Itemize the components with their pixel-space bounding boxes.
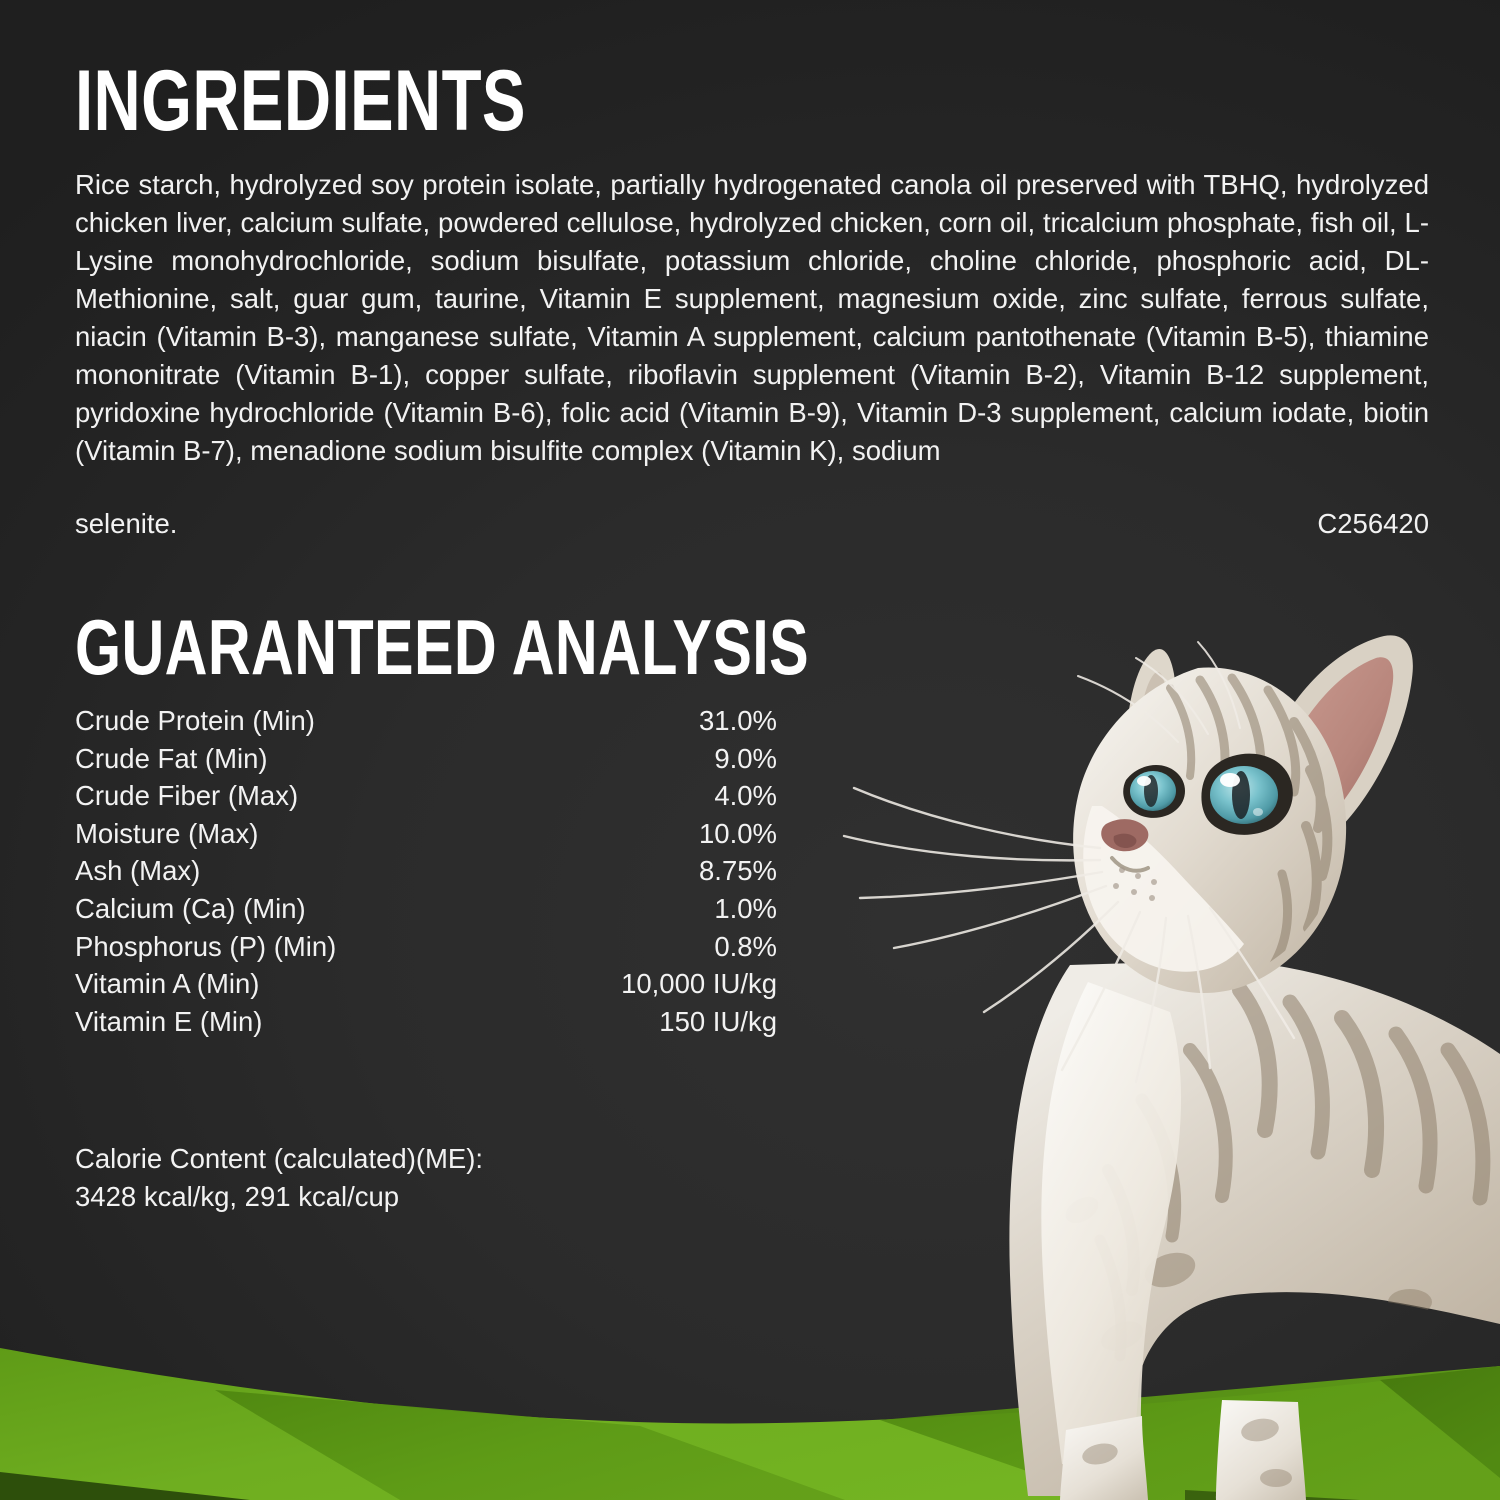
table-row: Phosphorus (P) (Min) 0.8%	[75, 928, 777, 966]
table-row: Crude Protein (Min) 31.0%	[75, 702, 777, 740]
nutrient-label: Vitamin E (Min)	[75, 1003, 262, 1041]
nutrient-label: Ash (Max)	[75, 852, 200, 890]
calorie-content-block: Calorie Content (calculated)(ME): 3428 k…	[75, 1140, 483, 1216]
nutrient-value: 10.0%	[699, 815, 777, 853]
ingredients-heading: INGREDIENTS	[75, 58, 526, 144]
nutrient-value: 0.8%	[714, 928, 777, 966]
table-row: Vitamin A (Min) 10,000 IU/kg	[75, 965, 777, 1003]
ingredients-last-line-row: selenite. C256420	[75, 505, 1429, 543]
ingredients-last-word: selenite.	[75, 505, 177, 543]
nutrient-value: 9.0%	[714, 740, 777, 778]
nutrient-value: 1.0%	[714, 890, 777, 928]
nutrient-label: Vitamin A (Min)	[75, 965, 259, 1003]
calorie-content-value: 3428 kcal/kg, 291 kcal/cup	[75, 1178, 483, 1216]
nutrient-value: 150 IU/kg	[659, 1003, 777, 1041]
nutrient-value: 31.0%	[699, 702, 777, 740]
table-row: Crude Fat (Min) 9.0%	[75, 740, 777, 778]
nutrient-label: Crude Fiber (Max)	[75, 777, 298, 815]
table-row: Ash (Max) 8.75%	[75, 852, 777, 890]
table-row: Calcium (Ca) (Min) 1.0%	[75, 890, 777, 928]
nutrient-label: Phosphorus (P) (Min)	[75, 928, 336, 966]
guaranteed-analysis-heading: GUARANTEED ANALYSIS	[75, 608, 809, 686]
green-wave-graphic	[0, 1240, 1500, 1500]
ingredients-body-text: Rice starch, hydrolyzed soy protein isol…	[75, 166, 1429, 470]
table-row: Vitamin E (Min) 150 IU/kg	[75, 1003, 777, 1041]
nutrient-label: Crude Fat (Min)	[75, 740, 268, 778]
calorie-content-label: Calorie Content (calculated)(ME):	[75, 1140, 483, 1178]
nutrient-value: 8.75%	[699, 852, 777, 890]
nutrient-label: Calcium (Ca) (Min)	[75, 890, 306, 928]
nutrient-label: Moisture (Max)	[75, 815, 258, 853]
nutrient-value: 4.0%	[714, 777, 777, 815]
table-row: Crude Fiber (Max) 4.0%	[75, 777, 777, 815]
guaranteed-analysis-table: Crude Protein (Min) 31.0% Crude Fat (Min…	[75, 702, 777, 1040]
ingredients-paragraph: Rice starch, hydrolyzed soy protein isol…	[75, 169, 1429, 466]
table-row: Moisture (Max) 10.0%	[75, 815, 777, 853]
product-code: C256420	[1317, 505, 1429, 543]
pet-food-label-panel: INGREDIENTS Rice starch, hydrolyzed soy …	[0, 0, 1500, 1500]
nutrient-label: Crude Protein (Min)	[75, 702, 315, 740]
nutrient-value: 10,000 IU/kg	[621, 965, 777, 1003]
